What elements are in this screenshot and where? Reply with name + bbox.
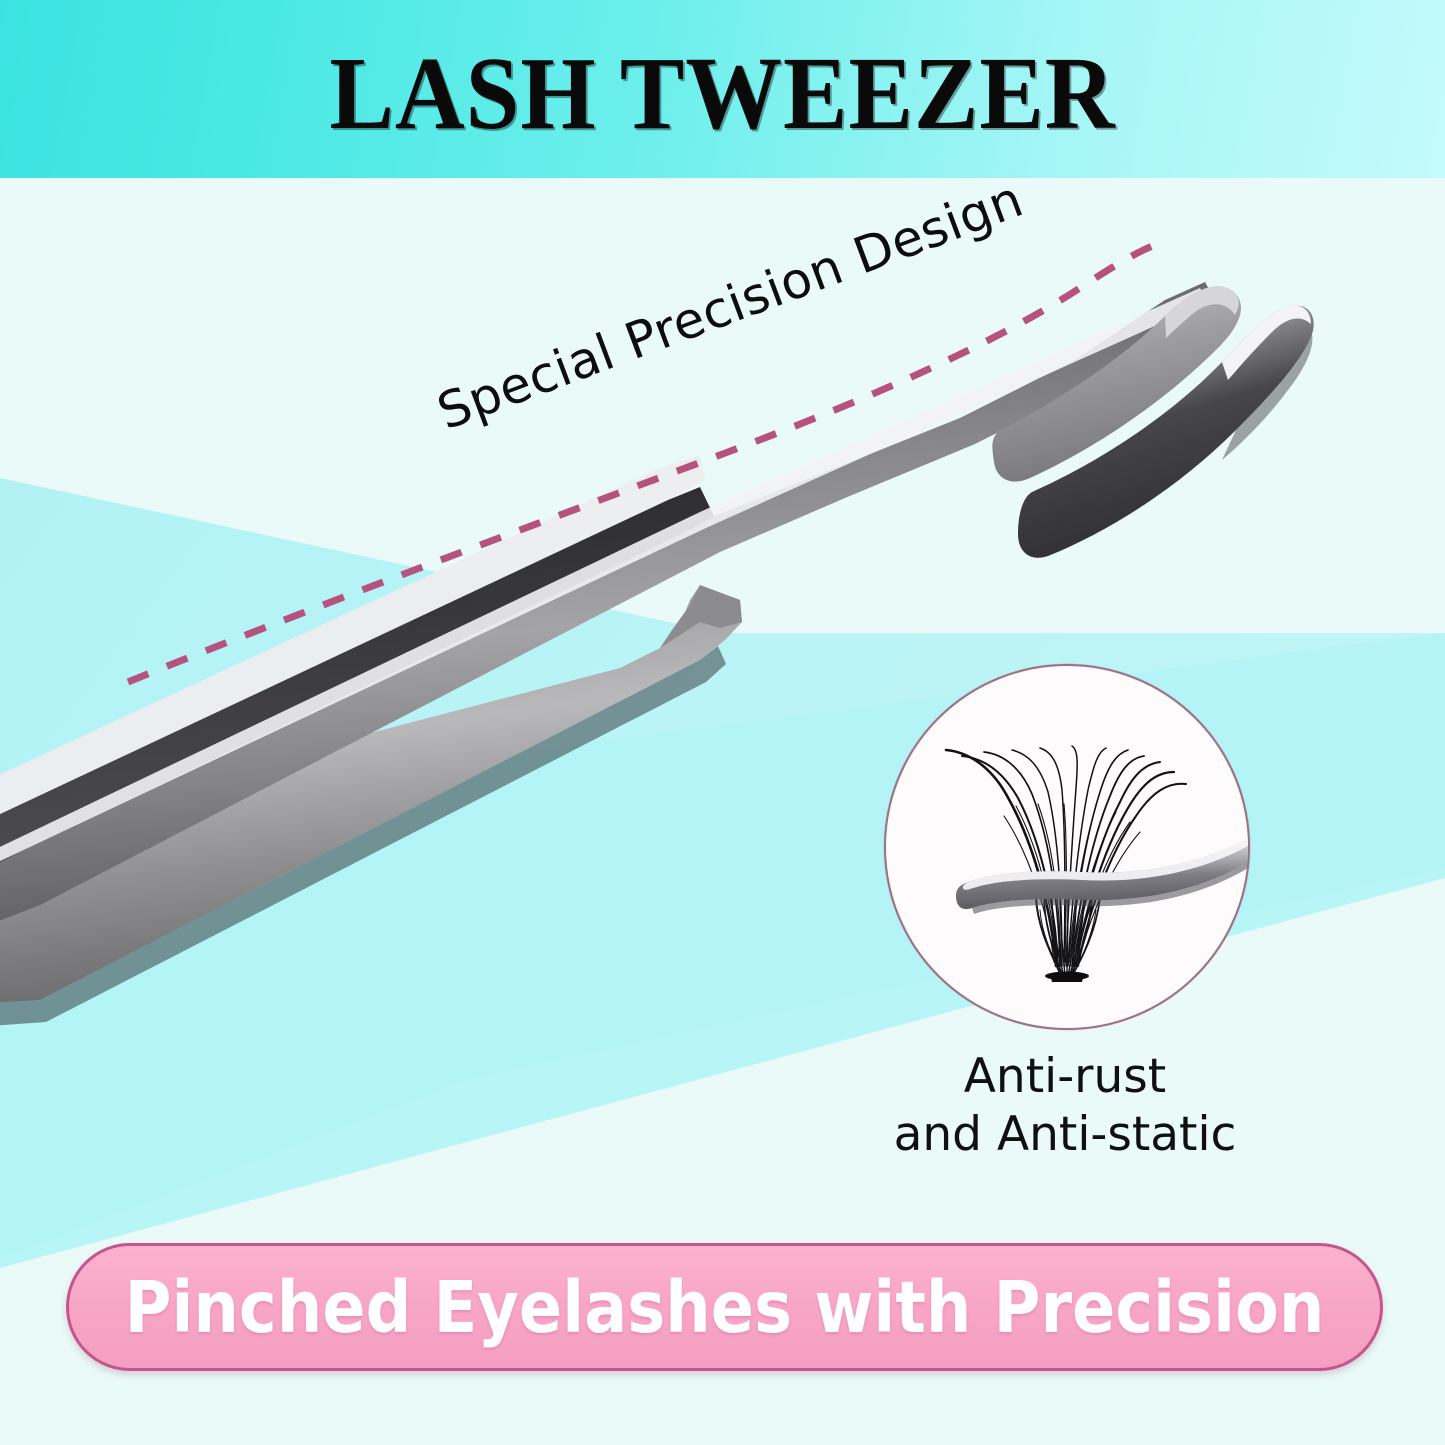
- lash-closeup-inset: [884, 664, 1250, 1030]
- anti-rust-caption-line1: Anti-rust: [800, 1048, 1330, 1106]
- page-title: LASH TWEEZER: [51, 40, 1395, 148]
- anti-rust-caption-line2: and Anti-static: [800, 1106, 1330, 1164]
- tagline-banner: Pinched Eyelashes with Precision: [66, 1243, 1383, 1371]
- anti-rust-caption: Anti-rust and Anti-static: [800, 1048, 1330, 1164]
- tagline-banner-text: Pinched Eyelashes with Precision: [125, 1272, 1325, 1343]
- lash-fan-illustration: [886, 666, 1248, 1028]
- product-marketing-image: LASH TWEEZER: [0, 0, 1445, 1445]
